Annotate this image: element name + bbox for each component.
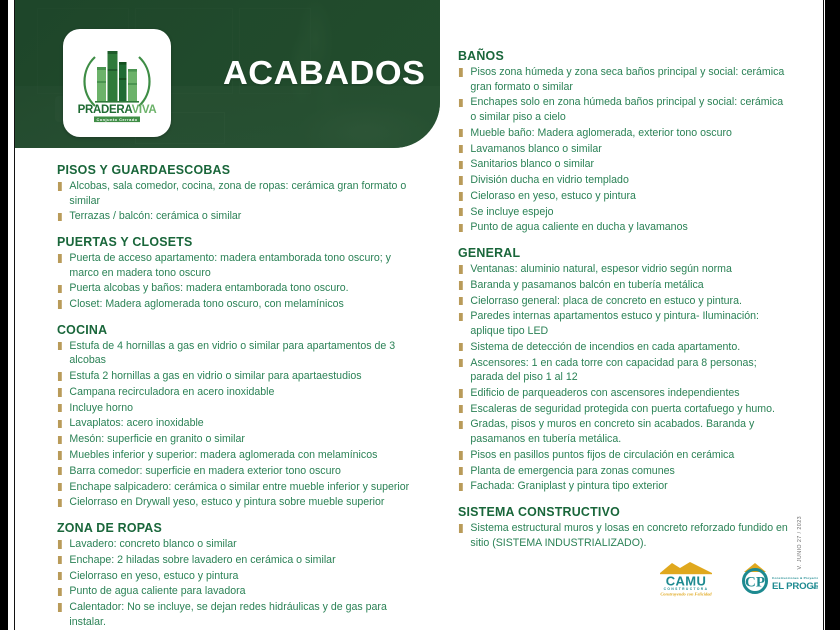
project-logo-card: PRADERAVIVA Conjunto Cerrado [63, 29, 171, 137]
list-item: Lavaplatos: acero inoxidable [57, 416, 412, 431]
list-item: Planta de emergencia para zonas comunes [458, 464, 788, 479]
list-item: Calentador: No se incluye, se dejan rede… [57, 600, 412, 629]
section-item-list: Alcobas, sala comedor, cocina, zona de r… [57, 179, 429, 224]
list-item-text: Closet: Madera aglomerada tono oscuro, c… [69, 298, 343, 310]
bullet-icon [459, 265, 462, 273]
bullet-icon [58, 436, 61, 444]
bullet-icon [459, 343, 462, 351]
progreso-supertitle: Construcciones & Proyectos [772, 576, 818, 580]
bullet-icon [58, 603, 61, 611]
bullet-icon [58, 300, 61, 308]
bullet-icon [58, 540, 61, 548]
bullet-icon [459, 421, 462, 429]
bullet-icon [459, 224, 462, 232]
list-item: Lavadero: concreto blanco o similar [57, 537, 412, 552]
section-cocina: COCINA Estufa de 4 hornillas a gas en vi… [57, 322, 429, 510]
list-item: Mesón: superficie en granito o similar [57, 432, 412, 447]
bullet-icon [58, 388, 61, 396]
section-heading: ZONA DE ROPAS [57, 520, 407, 535]
bullet-icon [459, 281, 462, 289]
bullet-icon [58, 285, 61, 293]
list-item: Se incluye espejo [458, 205, 788, 220]
section-pisos-y-guardaescobas: PISOS Y GUARDAESCOBAS Alcobas, sala come… [57, 162, 429, 224]
bullet-icon [459, 161, 462, 169]
right-column: BAÑOS Pisos zona húmeda y zona seca baño… [458, 48, 804, 560]
list-item-text: Lavamanos blanco o similar [470, 143, 601, 155]
bullet-icon [459, 129, 462, 137]
bullet-icon [58, 572, 61, 580]
list-item: División ducha en vidrio templado [458, 173, 788, 188]
section-sistema-constructivo: SISTEMA CONSTRUCTIVO Sistema estructural… [458, 504, 804, 550]
list-item: Escaleras de seguridad protegida con pue… [458, 402, 788, 417]
list-item-text: Barra comedor: superficie en madera exte… [69, 465, 340, 477]
camu-logo-icon: CAMU CONSTRUCTORA Construyendo con Felic… [650, 558, 722, 598]
list-item: Sanitarios blanco o similar [458, 157, 788, 172]
list-item: Punto de agua caliente para lavadora [57, 584, 412, 599]
list-item: Puerta de acceso apartamento: madera ent… [57, 251, 412, 280]
bullet-icon [459, 99, 462, 107]
section-general: GENERAL Ventanas: aluminio natural, espe… [458, 245, 804, 494]
bullet-icon [459, 145, 462, 153]
list-item: Cielorraso en Drywall yeso, estuco y pin… [57, 495, 412, 510]
page-title: ACABADOS [223, 54, 425, 92]
list-item: Cielorraso en yeso, estuco y pintura [57, 569, 412, 584]
bullet-icon [58, 420, 61, 428]
pradera-viva-logo-icon: PRADERAVIVA Conjunto Cerrado [71, 37, 163, 129]
list-item-text: Baranda y pasamanos balcón en tubería me… [470, 279, 703, 291]
list-item: Alcobas, sala comedor, cocina, zona de r… [57, 179, 412, 208]
bullet-icon [459, 192, 462, 200]
section-item-list: Lavadero: concreto blanco o similar Ench… [57, 537, 429, 629]
list-item: Baranda y pasamanos balcón en tubería me… [458, 278, 788, 293]
footer-logos: CAMU CONSTRUCTORA Construyendo con Felic… [650, 556, 815, 600]
list-item-text: Puerta de acceso apartamento: madera ent… [69, 252, 391, 279]
bullet-icon [58, 556, 61, 564]
list-item: Ventanas: aluminio natural, espesor vidr… [458, 262, 788, 277]
list-item: Estufa de 4 hornillas a gas en vidrio o … [57, 339, 412, 368]
list-item-text: Lavadero: concreto blanco o similar [69, 538, 236, 550]
list-item: Edificio de parqueaderos con ascensores … [458, 386, 788, 401]
list-item-text: Ascensores: 1 en cada torre con capacida… [470, 357, 756, 384]
list-item-text: Gradas, pisos y muros en concreto sin ac… [470, 418, 754, 445]
section-heading: SISTEMA CONSTRUCTIVO [458, 504, 783, 519]
section-heading: COCINA [57, 322, 407, 337]
bullet-icon [58, 483, 61, 491]
list-item-text: Se incluye espejo [470, 206, 553, 218]
bullet-icon [459, 389, 462, 397]
list-item: Punto de agua caliente en ducha y lavama… [458, 220, 788, 235]
header-banner: PRADERAVIVA Conjunto Cerrado ACABADOS [15, 0, 440, 148]
el-progreso-logo: CP Construcciones & Proyectos EL PROGRES… [740, 558, 818, 598]
list-item-text: Enchapes solo en zona húmeda baños princ… [470, 96, 783, 123]
section-item-list: Puerta de acceso apartamento: madera ent… [57, 251, 429, 312]
progreso-suffix: S.A.S. [813, 586, 818, 590]
list-item: Puerta alcobas y baños: madera entambora… [57, 281, 412, 296]
list-item-text: División ducha en vidrio templado [470, 174, 628, 186]
camu-tagline: Construyendo con Felicidad [660, 591, 712, 596]
bullet-icon [459, 176, 462, 184]
bullet-icon [58, 451, 61, 459]
list-item-text: Sanitarios blanco o similar [470, 158, 594, 170]
bullet-icon [58, 254, 61, 262]
section-item-list: Estufa de 4 hornillas a gas en vidrio o … [57, 339, 429, 510]
project-logo: PRADERAVIVA Conjunto Cerrado [71, 37, 163, 129]
list-item: Barra comedor: superficie en madera exte… [57, 464, 412, 479]
list-item-text: Mueble baño: Madera aglomerada, exterior… [470, 127, 731, 139]
list-item-text: Terrazas / balcón: cerámica o similar [69, 210, 241, 222]
bullet-icon [58, 499, 61, 507]
bullet-icon [58, 372, 61, 380]
bullet-icon [58, 404, 61, 412]
bullet-icon [58, 182, 61, 190]
list-item-text: Estufa de 4 hornillas a gas en vidrio o … [69, 340, 395, 367]
bullet-icon [58, 588, 61, 596]
section-heading: PUERTAS Y CLOSETS [57, 234, 407, 249]
list-item-text: Cielorraso en Drywall yeso, estuco y pin… [69, 496, 384, 508]
list-item: Campana recirculadora en acero inoxidabl… [57, 385, 412, 400]
section-zona-de-ropas: ZONA DE ROPAS Lavadero: concreto blanco … [57, 520, 429, 629]
bullet-icon [459, 524, 462, 532]
list-item-text: Puerta alcobas y baños: madera entambora… [69, 282, 348, 294]
list-item: Terrazas / balcón: cerámica o similar [57, 209, 412, 224]
list-item: Cieloraso en yeso, estuco y pintura [458, 189, 788, 204]
list-item: Mueble baño: Madera aglomerada, exterior… [458, 126, 788, 141]
svg-text:Conjunto Cerrado: Conjunto Cerrado [96, 117, 137, 122]
list-item-text: Punto de agua caliente para lavadora [69, 585, 245, 597]
bullet-icon [58, 467, 61, 475]
list-item: Sistema estructural muros y losas en con… [458, 521, 788, 550]
list-item: Enchape salpicadero: cerámica o similar … [57, 480, 412, 495]
camu-logo: CAMU CONSTRUCTORA Construyendo con Felic… [650, 558, 722, 598]
list-item-text: Planta de emergencia para zonas comunes [470, 465, 674, 477]
section-banos: BAÑOS Pisos zona húmeda y zona seca baño… [458, 48, 804, 235]
cp-monogram: CP [745, 575, 765, 591]
section-heading: PISOS Y GUARDAESCOBAS [57, 162, 407, 177]
list-item-text: Mesón: superficie en granito o similar [69, 433, 244, 445]
page-edge-right [825, 0, 840, 630]
progreso-wordmark: EL PROGRESO [772, 581, 818, 592]
section-puertas-y-closets: PUERTAS Y CLOSETS Puerta de acceso apart… [57, 234, 429, 312]
list-item-text: Pisos en pasillos puntos fijos de circul… [470, 449, 734, 461]
list-item: Cielorraso general: placa de concreto en… [458, 294, 788, 309]
brochure-page: PRADERAVIVA Conjunto Cerrado ACABADOS PI… [0, 0, 840, 630]
section-item-list: Pisos zona húmeda y zona seca baños prin… [458, 65, 804, 235]
bullet-icon [459, 313, 462, 321]
list-item: Ascensores: 1 en cada torre con capacida… [458, 356, 788, 385]
bullet-icon [58, 213, 61, 221]
section-item-list: Sistema estructural muros y losas en con… [458, 521, 804, 550]
list-item: Lavamanos blanco o similar [458, 142, 788, 157]
list-item: Gradas, pisos y muros en concreto sin ac… [458, 417, 788, 446]
el-progreso-logo-icon: CP Construcciones & Proyectos EL PROGRES… [740, 558, 818, 598]
list-item-text: Cielorraso general: placa de concreto en… [470, 295, 742, 307]
bullet-icon [459, 451, 462, 459]
left-column: PISOS Y GUARDAESCOBAS Alcobas, sala come… [57, 162, 429, 630]
bullet-icon [58, 342, 61, 350]
bullet-icon [459, 208, 462, 216]
list-item-text: Paredes internas apartamentos estuco y p… [470, 310, 759, 337]
list-item: Enchapes solo en zona húmeda baños princ… [458, 95, 788, 124]
bullet-icon [459, 297, 462, 305]
list-item: Paredes internas apartamentos estuco y p… [458, 309, 788, 338]
list-item-text: Sistema estructural muros y losas en con… [470, 522, 787, 549]
section-heading: BAÑOS [458, 48, 783, 63]
version-date-label: V. JUNIO 27 / 2023 [797, 516, 803, 569]
list-item-text: Estufa 2 hornillas a gas en vidrio o sim… [69, 370, 361, 382]
list-item-text: Enchape: 2 hiladas sobre lavadero en cer… [69, 554, 335, 566]
section-item-list: Ventanas: aluminio natural, espesor vidr… [458, 262, 804, 494]
page-edge-left [0, 0, 8, 630]
section-heading: GENERAL [458, 245, 783, 260]
list-item-text: Escaleras de seguridad protegida con pue… [470, 403, 774, 415]
list-item: Fachada: Graniplast y pintura tipo exter… [458, 479, 788, 494]
bullet-icon [459, 483, 462, 491]
list-item: Muebles inferior y superior: madera aglo… [57, 448, 412, 463]
list-item-text: Enchape salpicadero: cerámica o similar … [69, 481, 409, 493]
list-item: Pisos zona húmeda y zona seca baños prin… [458, 65, 788, 94]
list-item-text: Calentador: No se incluye, se dejan rede… [69, 601, 386, 628]
page-hairline-right [823, 0, 824, 630]
list-item-text: Cielorraso en yeso, estuco y pintura [69, 570, 238, 582]
list-item-text: Alcobas, sala comedor, cocina, zona de r… [69, 180, 406, 207]
bullet-icon [459, 68, 462, 76]
bullet-icon [459, 405, 462, 413]
list-item: Enchape: 2 hiladas sobre lavadero en cer… [57, 553, 412, 568]
list-item-text: Campana recirculadora en acero inoxidabl… [69, 386, 274, 398]
list-item-text: Pisos zona húmeda y zona seca baños prin… [470, 66, 784, 93]
list-item-text: Sistema de detección de incendios en cad… [470, 341, 740, 353]
svg-text:PRADERAVIVA: PRADERAVIVA [78, 104, 157, 116]
bullet-icon [459, 359, 462, 367]
list-item-text: Fachada: Graniplast y pintura tipo exter… [470, 480, 667, 492]
list-item-text: Ventanas: aluminio natural, espesor vidr… [470, 263, 731, 275]
list-item-text: Punto de agua caliente en ducha y lavama… [470, 221, 687, 233]
list-item-text: Lavaplatos: acero inoxidable [69, 417, 203, 429]
list-item: Sistema de detección de incendios en cad… [458, 340, 788, 355]
camu-subtitle: CONSTRUCTORA [664, 587, 709, 591]
list-item: Pisos en pasillos puntos fijos de circul… [458, 448, 788, 463]
bullet-icon [459, 467, 462, 475]
list-item-text: Incluye horno [69, 402, 133, 414]
list-item: Incluye horno [57, 401, 412, 416]
list-item-text: Muebles inferior y superior: madera aglo… [69, 449, 377, 461]
list-item-text: Edificio de parqueaderos con ascensores … [470, 387, 739, 399]
list-item: Closet: Madera aglomerada tono oscuro, c… [57, 297, 412, 312]
list-item: Estufa 2 hornillas a gas en vidrio o sim… [57, 369, 412, 384]
list-item-text: Cieloraso en yeso, estuco y pintura [470, 190, 635, 202]
